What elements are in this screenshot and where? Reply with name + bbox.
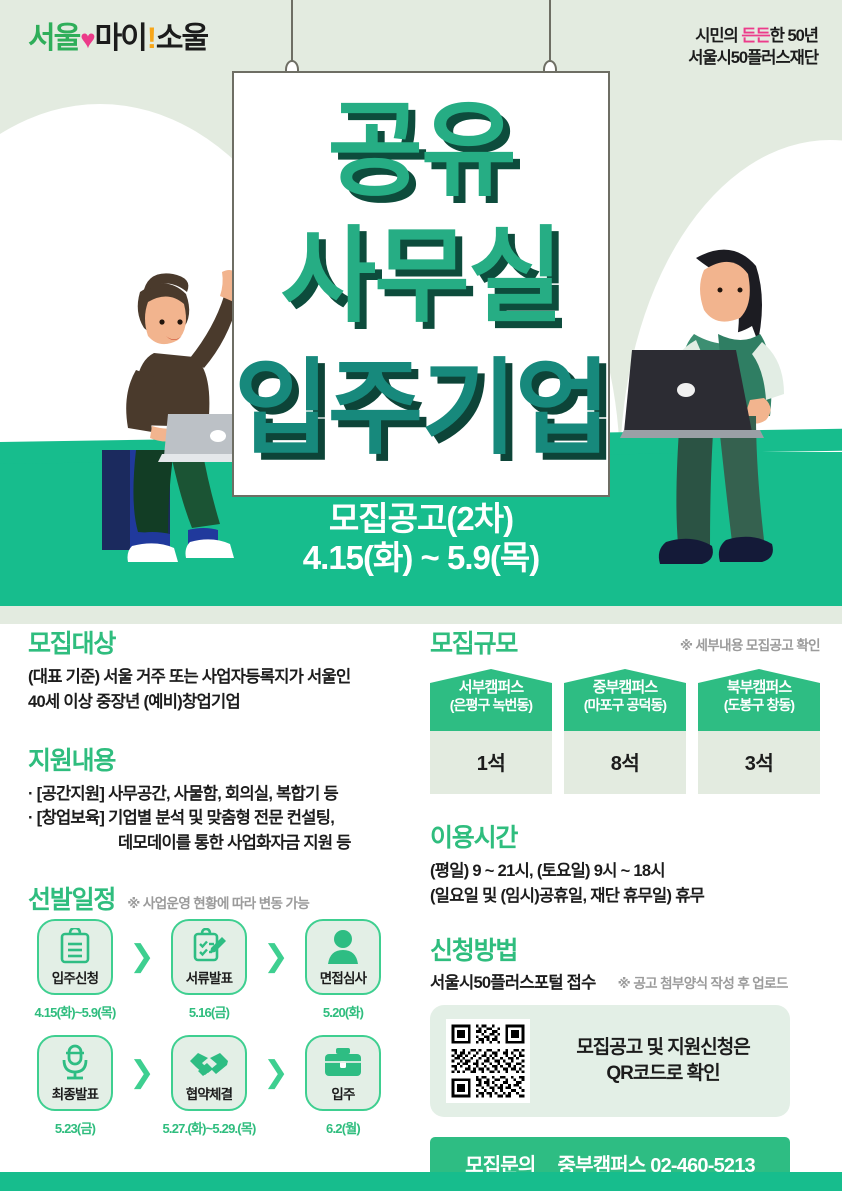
title-line-1: 공유 xyxy=(234,99,608,203)
hero-section: 공유 사무실 입주기업 모집공고(2차) 4.15(화) ~ 5.9(목) 서울… xyxy=(0,0,842,606)
tagline-post: 한 50년 xyxy=(770,27,818,45)
qr-instruction-line-1: 모집공고 및 지원신청은 xyxy=(552,1035,774,1061)
hours-block: 이용시간 (평일) 9 ~ 21시, (토요일) 9시 ~ 18시 (일요일 및… xyxy=(430,826,820,909)
target-text-1: (대표 기준) 서울 거주 또는 사업자등록지가 서울인 xyxy=(28,665,403,690)
schedule-step-date: 4.15(화)~5.9(목) xyxy=(28,1002,122,1021)
schedule-step-application: 입주신청 4.15(화)~5.9(목) xyxy=(28,919,122,1021)
schedule-header-row: 선발일정 ※ 사업운영 현황에 따라 변동 가능 xyxy=(28,888,403,913)
campus-card-list: 서부캠퍼스 (은평구 녹번동) 1석 중부캠퍼스 (마포구 공덕동) 8석 xyxy=(430,669,820,794)
title-line-3: 입주기업 xyxy=(234,357,608,461)
schedule-step-label: 최종발표 xyxy=(52,1083,98,1103)
support-text-1: · [공간지원] 사무공간, 사물함, 회의실, 복합기 등 xyxy=(28,782,403,807)
schedule-step-label: 면접심사 xyxy=(320,967,366,987)
schedule-note: ※ 사업운영 현황에 따라 변동 가능 xyxy=(127,892,309,912)
chevron-right-icon: ❯ xyxy=(124,919,160,995)
schedule-step-label: 협약체결 xyxy=(186,1083,232,1103)
campus-card-header: 서부캠퍼스 (은평구 녹번동) xyxy=(430,669,552,731)
target-block: 모집대상 (대표 기준) 서울 거주 또는 사업자등록지가 서울인 40세 이상… xyxy=(28,632,403,715)
divider-strip xyxy=(0,606,842,624)
schedule-step-final-result: 최종발표 5.23(금) xyxy=(28,1035,122,1137)
schedule-step-card: 서류발표 xyxy=(171,919,247,995)
schedule-step-date: 5.16(금) xyxy=(162,1002,256,1021)
apply-heading: 신청방법 xyxy=(430,939,820,964)
campus-card-header: 중부캠퍼스 (마포구 공덕동) xyxy=(564,669,686,731)
checklist-pencil-icon xyxy=(191,926,227,966)
campus-card-north: 북부캠퍼스 (도봉구 창동) 3석 xyxy=(698,669,820,794)
campus-card-header: 북부캠퍼스 (도봉구 창동) xyxy=(698,669,820,731)
foundation-tagline: 시민의 든든한 50년 서울시50플러스재단 xyxy=(688,26,818,70)
apply-block: 신청방법 서울시50플러스포털 접수 ※ 공고 첨부양식 작성 후 업로드 xyxy=(430,939,820,1191)
target-heading: 모집대상 xyxy=(28,632,403,657)
campus-card-central: 중부캠퍼스 (마포구 공덕동) 8석 xyxy=(564,669,686,794)
schedule-step-label: 서류발표 xyxy=(186,967,232,987)
microphone-icon xyxy=(58,1042,92,1082)
person-icon xyxy=(326,926,360,966)
campus-name: 서부캠퍼스 xyxy=(432,679,550,697)
recruitment-period: 4.15(화) ~ 5.9(목) xyxy=(0,539,842,578)
schedule-row-1: 입주신청 4.15(화)~5.9(목) ❯ 서류발표 xyxy=(28,919,403,1021)
logo-text-my: 마이 xyxy=(95,24,146,54)
campus-seats: 3석 xyxy=(698,731,820,794)
scale-header-row: 모집규모 ※ 세부내용 모집공고 확인 xyxy=(430,632,820,657)
title-board: 공유 사무실 입주기업 xyxy=(232,71,610,497)
recruitment-notice-label: 모집공고(2차) xyxy=(0,500,842,539)
campus-seats: 1석 xyxy=(430,731,552,794)
right-column: 모집규모 ※ 세부내용 모집공고 확인 서부캠퍼스 (은평구 녹번동) 1석 중… xyxy=(430,624,820,1190)
campus-location: (도봉구 창동) xyxy=(700,697,818,714)
logo-text-soul: 소울 xyxy=(156,24,207,54)
hours-heading: 이용시간 xyxy=(430,826,820,851)
scale-block: 모집규모 ※ 세부내용 모집공고 확인 서부캠퍼스 (은평구 녹번동) 1석 중… xyxy=(430,632,820,794)
schedule-block: 선발일정 ※ 사업운영 현황에 따라 변동 가능 입주신청 4.15 xyxy=(28,888,403,1137)
support-text-2: · [창업보육] 기업별 분석 및 맞춤형 전문 컨설팅, xyxy=(28,806,403,831)
hero-subtitle-block: 모집공고(2차) 4.15(화) ~ 5.9(목) xyxy=(0,500,842,578)
tagline-line-1: 시민의 든든한 50년 xyxy=(688,26,818,48)
qr-info-box: 모집공고 및 지원신청은 QR코드로 확인 xyxy=(430,1005,790,1117)
seoul-my-soul-logo: 서울♥마이!소울 xyxy=(28,24,207,54)
content-section: 모집대상 (대표 기준) 서울 거주 또는 사업자등록지가 서울인 40세 이상… xyxy=(0,624,842,1191)
footer-bar xyxy=(0,1172,842,1191)
poster: 공유 사무실 입주기업 모집공고(2차) 4.15(화) ~ 5.9(목) 서울… xyxy=(0,0,842,1191)
chevron-right-icon: ❯ xyxy=(258,919,294,995)
briefcase-icon xyxy=(323,1042,363,1082)
schedule-step-label: 입주 xyxy=(331,1083,354,1103)
schedule-step-date: 6.2(월) xyxy=(296,1118,390,1137)
apply-method-row: 서울시50플러스포털 접수 ※ 공고 첨부양식 작성 후 업로드 xyxy=(430,971,820,996)
campus-location: (마포구 공덕동) xyxy=(566,697,684,714)
support-text-3: 데모데이를 통한 사업화자금 지원 등 xyxy=(28,831,403,856)
schedule-heading: 선발일정 xyxy=(28,888,115,913)
apply-note: ※ 공고 첨부양식 작성 후 업로드 xyxy=(618,972,788,992)
left-column: 모집대상 (대표 기준) 서울 거주 또는 사업자등록지가 서울인 40세 이상… xyxy=(28,624,403,1137)
campus-name: 북부캠퍼스 xyxy=(700,679,818,697)
campus-location: (은평구 녹번동) xyxy=(432,697,550,714)
schedule-step-date: 5.27.(화)~5.29.(목) xyxy=(162,1118,256,1137)
schedule-row-2: 최종발표 5.23(금) ❯ 협약체결 xyxy=(28,1035,403,1137)
logo-text-seoul: 서울 xyxy=(28,24,79,54)
handshake-icon xyxy=(188,1042,230,1082)
hours-text-2: (일요일 및 (임시)공휴일, 재단 휴무일) 휴무 xyxy=(430,884,820,909)
schedule-step-card: 최종발표 xyxy=(37,1035,113,1111)
hours-text-1: (평일) 9 ~ 21시, (토요일) 9시 ~ 18시 xyxy=(430,859,820,884)
schedule-step-interview: 면접심사 5.20(화) xyxy=(296,919,390,1021)
schedule-step-date: 5.20(화) xyxy=(296,1002,390,1021)
qr-instruction-line-2: QR코드로 확인 xyxy=(552,1061,774,1087)
target-text-2: 40세 이상 중장년 (예비)창업기업 xyxy=(28,690,403,715)
support-block: 지원내용 · [공간지원] 사무공간, 사물함, 회의실, 복합기 등 · [창… xyxy=(28,749,403,856)
schedule-step-card: 협약체결 xyxy=(171,1035,247,1111)
schedule-step-card: 면접심사 xyxy=(305,919,381,995)
schedule-step-document-result: 서류발표 5.16(금) xyxy=(162,919,256,1021)
apply-method: 서울시50플러스포털 접수 xyxy=(430,971,596,996)
heart-icon: ♥ xyxy=(80,26,93,52)
qr-code[interactable] xyxy=(446,1019,530,1103)
clipboard-icon xyxy=(58,926,92,966)
campus-name: 중부캠퍼스 xyxy=(566,679,684,697)
schedule-step-label: 입주신청 xyxy=(52,967,98,987)
schedule-step-move-in: 입주 6.2(월) xyxy=(296,1035,390,1137)
support-heading: 지원내용 xyxy=(28,749,403,774)
qr-instruction: 모집공고 및 지원신청은 QR코드로 확인 xyxy=(552,1035,774,1087)
tagline-highlight: 든든 xyxy=(741,27,769,45)
tagline-line-2: 서울시50플러스재단 xyxy=(688,48,818,70)
tagline-pre: 시민의 xyxy=(695,27,741,45)
schedule-step-card: 입주신청 xyxy=(37,919,113,995)
schedule-step-agreement: 협약체결 5.27.(화)~5.29.(목) xyxy=(162,1035,256,1137)
title-line-2: 사무실 xyxy=(234,225,608,329)
chevron-right-icon: ❯ xyxy=(258,1035,294,1111)
schedule-step-date: 5.23(금) xyxy=(28,1118,122,1137)
scale-heading: 모집규모 xyxy=(430,632,517,657)
scale-note: ※ 세부내용 모집공고 확인 xyxy=(680,634,820,657)
campus-card-west: 서부캠퍼스 (은평구 녹번동) 1석 xyxy=(430,669,552,794)
campus-seats: 8석 xyxy=(564,731,686,794)
exclamation-icon: ! xyxy=(147,24,155,54)
schedule-step-card: 입주 xyxy=(305,1035,381,1111)
chevron-right-icon: ❯ xyxy=(124,1035,160,1111)
